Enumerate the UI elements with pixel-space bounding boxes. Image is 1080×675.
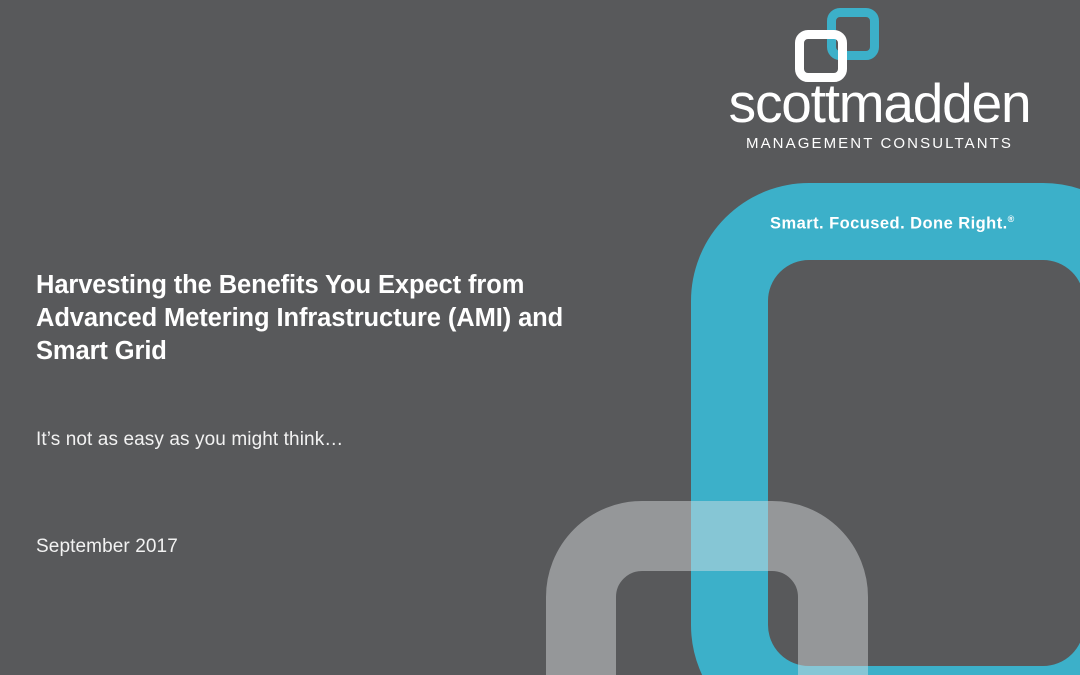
teal-rounded-square-graphic: [691, 183, 1080, 675]
logo-wordmark: scottmadden: [717, 76, 1042, 131]
brand-tagline-text: Smart. Focused. Done Right.: [770, 215, 1008, 233]
title-slide: Smart. Focused. Done Right.® scottmadden…: [0, 0, 1080, 675]
slide-date: September 2017: [36, 536, 178, 558]
slide-subtitle: It’s not as easy as you might think…: [36, 429, 343, 451]
scottmadden-logo: scottmadden MANAGEMENT CONSULTANTS: [717, 8, 1042, 160]
registered-trademark-icon: ®: [1008, 214, 1015, 224]
logo-descriptor: MANAGEMENT CONSULTANTS: [717, 136, 1042, 151]
logo-mark-icon: [795, 8, 879, 82]
gray-rounded-square-graphic: [546, 501, 868, 675]
page-title: Harvesting the Benefits You Expect from …: [36, 269, 636, 368]
brand-tagline: Smart. Focused. Done Right.®: [770, 214, 1014, 234]
